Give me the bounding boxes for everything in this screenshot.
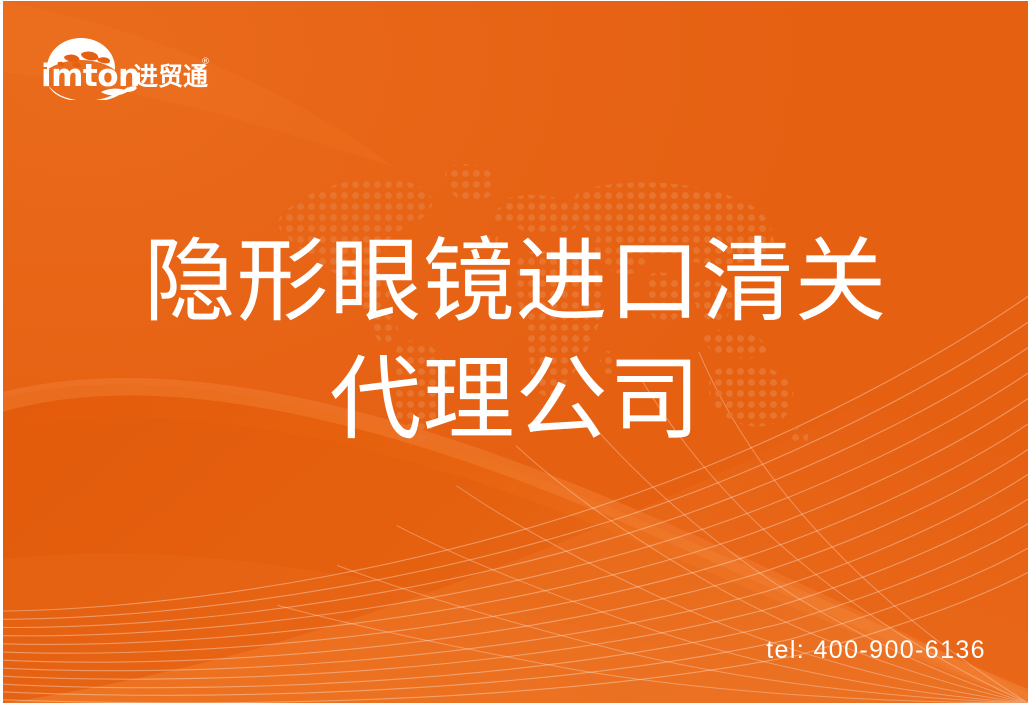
headline-line-1: 隐形眼镜进口清关 <box>3 223 1028 341</box>
page-title: 隐形眼镜进口清关 代理公司 <box>3 223 1028 459</box>
registered-trademark-icon: ® <box>201 57 210 67</box>
logo-wordmark: imton <box>41 58 140 94</box>
contact-phone: tel: 400-900-6136 <box>766 636 986 665</box>
headline-line-2: 代理公司 <box>3 341 1028 459</box>
promo-banner: imton 进贸通 ® 隐形眼镜进口清关 代理公司 tel: 400-900-6… <box>0 0 1031 704</box>
logo-chinese-text: 进贸通 <box>133 62 208 91</box>
imton-logo: imton 进贸通 ® <box>41 28 213 100</box>
